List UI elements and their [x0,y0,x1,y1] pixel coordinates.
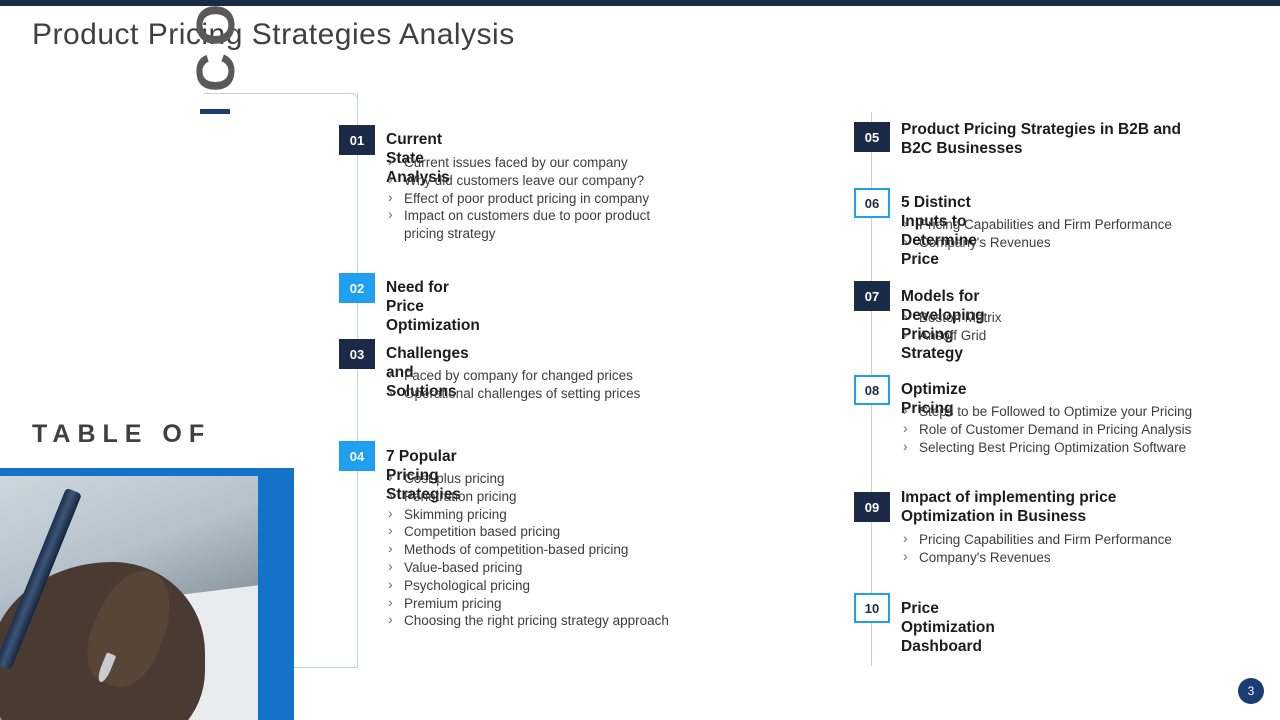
toc-badge-06[interactable]: 06 [854,188,890,218]
toc-badge-02[interactable]: 02 [339,273,375,303]
toc-title-09: Impact of implementing price Optimizatio… [901,488,1201,526]
toc-bullets-07: Boston Matrix Ansoff Grid [901,309,1231,345]
toc-bullets-03: Faced by company for changed prices Oper… [386,367,686,403]
page-number-badge: 3 [1238,678,1264,704]
page-title: Product Pricing Strategies Analysis [32,18,515,52]
photo-block [0,468,294,720]
toc-badge-07[interactable]: 07 [854,281,890,311]
list-item: Faced by company for changed prices [386,367,686,385]
list-item: Methods of competition-based pricing [386,541,716,559]
toc-title-02: Need for Price Optimization [386,278,480,335]
toc-bullets-06: Pricing Capabilities and Firm Performanc… [901,216,1231,252]
toc-vertical-text: CONTENTS [189,0,243,92]
toc-bullets-01: Current issues faced by our company Why … [386,154,686,243]
slide-root: Product Pricing Strategies Analysis CONT… [0,0,1280,720]
toc-title-10: Price Optimization Dashboard [901,599,995,656]
toc-vertical-word: CONTENTS [131,92,195,392]
toc-badge-04[interactable]: 04 [339,441,375,471]
toc-bullets-09: Pricing Capabilities and Firm Performanc… [901,531,1231,567]
toc-badge-10[interactable]: 10 [854,593,890,623]
photo-image [0,476,258,720]
list-item: Company's Revenues [901,234,1231,252]
list-item: Psychological pricing [386,577,716,595]
list-item: Selecting Best Pricing Optimization Soft… [901,439,1241,457]
list-item: Impact on customers due to poor product … [386,207,686,243]
toc-badge-05[interactable]: 05 [854,122,890,152]
list-item: Ansoff Grid [901,327,1231,345]
list-item: Value-based pricing [386,559,716,577]
list-item: Role of Customer Demand in Pricing Analy… [901,421,1241,439]
list-item: Penetration pricing [386,488,716,506]
list-item: Company's Revenues [901,549,1231,567]
list-item: Steps to be Followed to Optimize your Pr… [901,403,1241,421]
list-item: Why did customers leave our company? [386,172,686,190]
list-item: Competition based pricing [386,523,716,541]
list-item: Operational challenges of setting prices [386,385,686,403]
list-item: Effect of poor product pricing in compan… [386,190,686,208]
list-item: Pricing Capabilities and Firm Performanc… [901,531,1231,549]
list-item: Skimming pricing [386,506,716,524]
toc-bullets-04: Cost-plus pricing Penetration pricing Sk… [386,470,716,630]
toc-badge-01[interactable]: 01 [339,125,375,155]
left-column-rule [357,93,358,666]
list-item: Current issues faced by our company [386,154,686,172]
toc-bullets-08: Steps to be Followed to Optimize your Pr… [901,403,1241,456]
list-item: Boston Matrix [901,309,1231,327]
toc-badge-08[interactable]: 08 [854,375,890,405]
list-item: Choosing the right pricing strategy appr… [386,612,716,630]
list-item: Cost-plus pricing [386,470,716,488]
list-item: Premium pricing [386,595,716,613]
toc-title-05: Product Pricing Strategies in B2B and B2… [901,120,1201,158]
toc-prefix-word: TABLE OF [32,420,211,449]
toc-badge-09[interactable]: 09 [854,492,890,522]
list-item: Pricing Capabilities and Firm Performanc… [901,216,1231,234]
toc-badge-03[interactable]: 03 [339,339,375,369]
